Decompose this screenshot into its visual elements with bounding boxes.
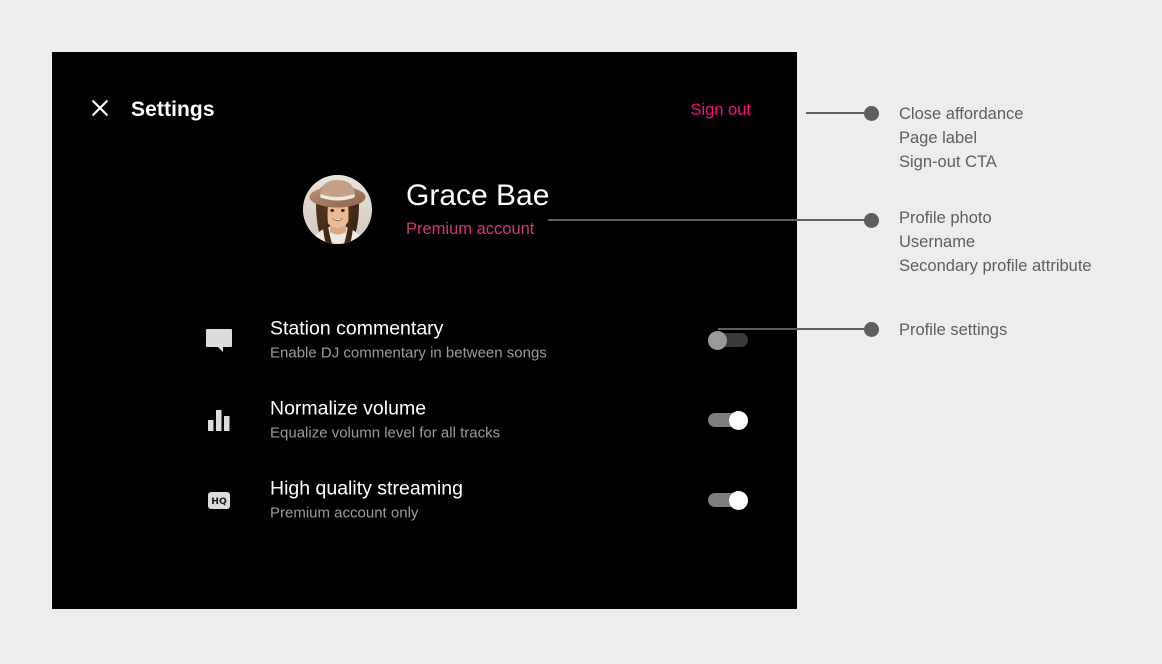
annotation-leader-line-1: [806, 112, 866, 114]
profile-text: Grace Bae Premium account: [406, 180, 549, 240]
annotation-text-1: Close affordance Page label Sign-out CTA: [899, 102, 1023, 174]
row-subtitle: Enable DJ commentary in between songs: [270, 345, 547, 362]
app-bar: Settings Sign out: [52, 52, 797, 164]
row-title: Normalize volume: [270, 398, 500, 420]
comment-bubble-icon: [201, 322, 237, 358]
annotation-dot-1: [864, 106, 879, 121]
annotation-dot-2: [864, 213, 879, 228]
row-texts: High quality streaming Premium account o…: [270, 478, 463, 523]
page-title: Settings: [131, 98, 215, 122]
toggle-station-commentary[interactable]: [708, 331, 748, 349]
row-texts: Normalize volume Equalize volumn level f…: [270, 398, 500, 443]
sign-out-button[interactable]: Sign out: [690, 101, 751, 120]
toggle-high-quality-streaming[interactable]: [708, 491, 748, 509]
toggle-knob: [729, 491, 748, 510]
annotation-leader-line-3: [718, 328, 866, 330]
settings-row-normalize-volume[interactable]: Normalize volume Equalize volumn level f…: [52, 380, 797, 460]
settings-row-station-commentary[interactable]: Station commentary Enable DJ commentary …: [52, 300, 797, 380]
annotation-line-text: Close affordance: [899, 102, 1023, 126]
toggle-normalize-volume[interactable]: [708, 411, 748, 429]
annotation-line-text: Profile settings: [899, 318, 1007, 342]
settings-row-high-quality-streaming[interactable]: HQ High quality streaming Premium accoun…: [52, 460, 797, 540]
annotation-line-text: Secondary profile attribute: [899, 254, 1092, 278]
avatar[interactable]: [303, 175, 372, 244]
row-title: Station commentary: [270, 318, 547, 340]
hq-badge-icon: HQ: [201, 482, 237, 518]
toggle-knob: [708, 331, 727, 350]
profile-secondary-attribute: Premium account: [406, 220, 549, 239]
annotation-line-text: Page label: [899, 126, 1023, 150]
settings-panel: Settings Sign out: [52, 52, 797, 609]
annotation-line-text: Username: [899, 230, 1092, 254]
profile-block: Grace Bae Premium account: [303, 175, 549, 244]
close-icon[interactable]: [80, 88, 120, 128]
annotation-text-2: Profile photo Username Secondary profile…: [899, 206, 1092, 278]
row-title: High quality streaming: [270, 478, 463, 500]
settings-list: Station commentary Enable DJ commentary …: [52, 300, 797, 540]
row-texts: Station commentary Enable DJ commentary …: [270, 318, 547, 363]
annotation-leader-line-2: [548, 219, 866, 221]
annotation-line-text: Profile photo: [899, 206, 1092, 230]
row-subtitle: Premium account only: [270, 505, 463, 522]
equalizer-bars-icon: [201, 402, 237, 438]
annotation-line-text: Sign-out CTA: [899, 150, 1023, 174]
row-subtitle: Equalize volumn level for all tracks: [270, 425, 500, 442]
annotation-text-3: Profile settings: [899, 318, 1007, 342]
svg-text:HQ: HQ: [211, 496, 227, 507]
profile-username: Grace Bae: [406, 180, 549, 212]
toggle-knob: [729, 411, 748, 430]
annotation-dot-3: [864, 322, 879, 337]
